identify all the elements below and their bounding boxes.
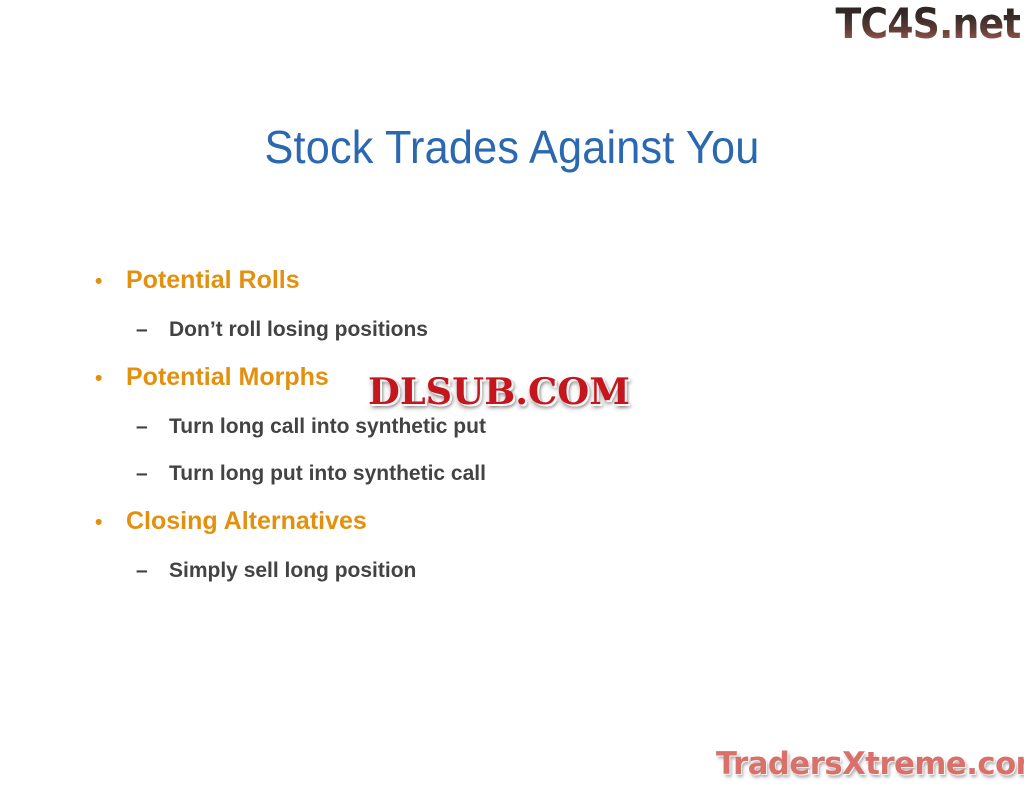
dash-icon: – bbox=[136, 306, 169, 353]
bullet-level1-label: Potential Rolls bbox=[126, 256, 300, 304]
bullet-level2-item: – Turn long put into synthetic call bbox=[88, 450, 848, 497]
dash-icon: – bbox=[136, 547, 169, 594]
bullet-dot-icon: • bbox=[88, 355, 126, 403]
bullet-level1-potential-rolls: • Potential Rolls bbox=[88, 256, 848, 306]
bullet-group: • Potential Rolls – Don’t roll losing po… bbox=[88, 256, 848, 353]
tradersxtreme-com-watermark: TradersXtreme.com bbox=[716, 745, 1024, 783]
dash-icon: – bbox=[136, 450, 169, 497]
slide-body-content: • Potential Rolls – Don’t roll losing po… bbox=[88, 256, 848, 594]
bullet-dot-icon: • bbox=[88, 499, 126, 547]
bullet-level2-label: Don’t roll losing positions bbox=[169, 306, 428, 353]
dlsub-com-watermark: DLSUB.COM bbox=[368, 372, 630, 412]
bullet-level1-label: Closing Alternatives bbox=[126, 497, 367, 545]
bullet-group: • Closing Alternatives – Simply sell lon… bbox=[88, 497, 848, 594]
bullet-level2-item: – Simply sell long position bbox=[88, 547, 848, 594]
tc4s-logo-watermark: TC4S.net bbox=[835, 2, 1020, 46]
bullet-level2-label: Simply sell long position bbox=[169, 547, 416, 594]
bullet-dot-icon: • bbox=[88, 258, 126, 306]
slide-title: Stock Trades Against You bbox=[31, 118, 994, 176]
presentation-slide: TC4S.net Stock Trades Against You • Pote… bbox=[0, 0, 1024, 791]
bullet-level2-label: Turn long put into synthetic call bbox=[169, 450, 486, 497]
bullet-level2-item: – Don’t roll losing positions bbox=[88, 306, 848, 353]
bullet-level1-closing-alternatives: • Closing Alternatives bbox=[88, 497, 848, 547]
bullet-level1-label: Potential Morphs bbox=[126, 353, 329, 401]
dash-icon: – bbox=[136, 403, 169, 450]
